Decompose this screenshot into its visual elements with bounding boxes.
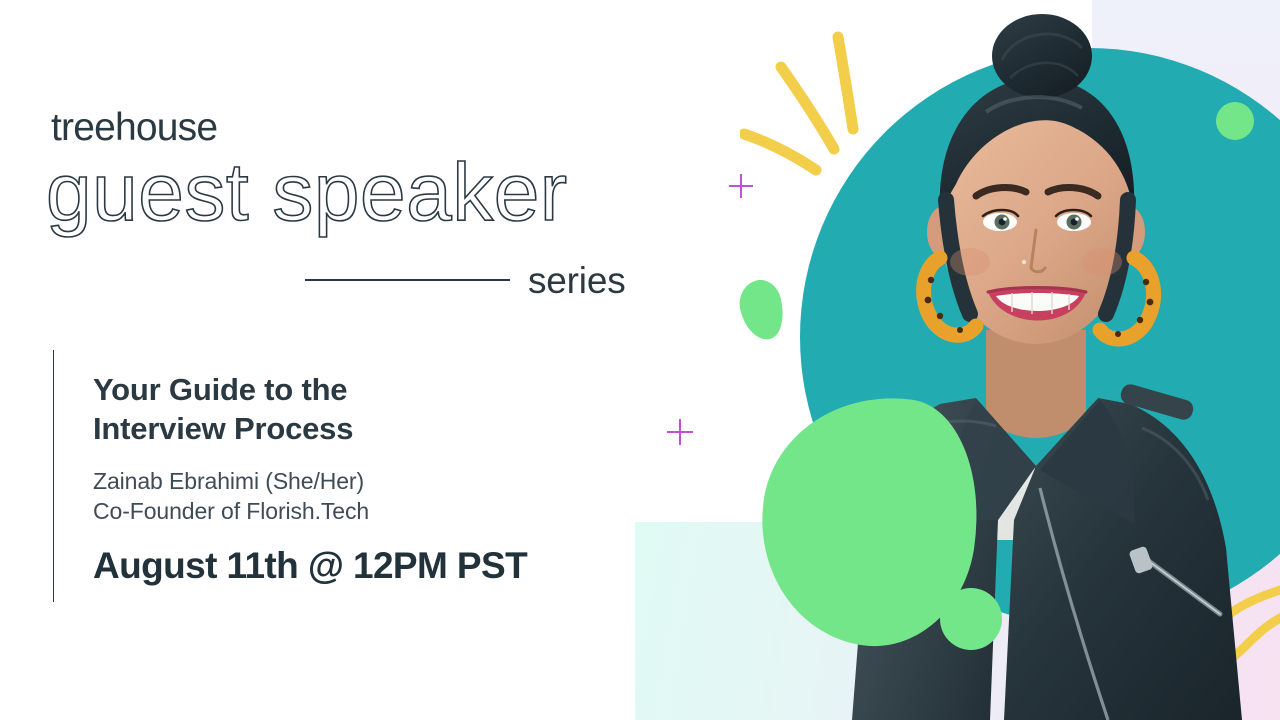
speaker-role: Co-Founder of Florish.Tech: [93, 496, 653, 527]
brand-wordmark: treehouse: [51, 108, 217, 147]
plus-mark-icon: [729, 174, 753, 198]
event-info-block: Your Guide to the Interview Process Zain…: [53, 350, 653, 602]
green-blob-small-shape: [734, 276, 789, 344]
series-divider-rule: [305, 279, 510, 281]
text-content-area: treehouse guest speaker series Your Guid…: [0, 0, 700, 720]
slide-canvas: treehouse guest speaker series Your Guid…: [0, 0, 1280, 720]
headline-outline-text: guest speaker: [46, 152, 568, 234]
green-dot-shape: [940, 588, 1002, 650]
series-row: series: [305, 258, 635, 302]
event-date-time: August 11th @ 12PM PST: [93, 546, 653, 587]
talk-title-line-2: Interview Process: [93, 409, 653, 448]
speaker-name: Zainab Ebrahimi (She/Her): [93, 466, 653, 497]
talk-title: Your Guide to the Interview Process: [93, 370, 653, 449]
series-label: series: [528, 262, 626, 299]
talk-title-line-1: Your Guide to the: [93, 370, 653, 409]
